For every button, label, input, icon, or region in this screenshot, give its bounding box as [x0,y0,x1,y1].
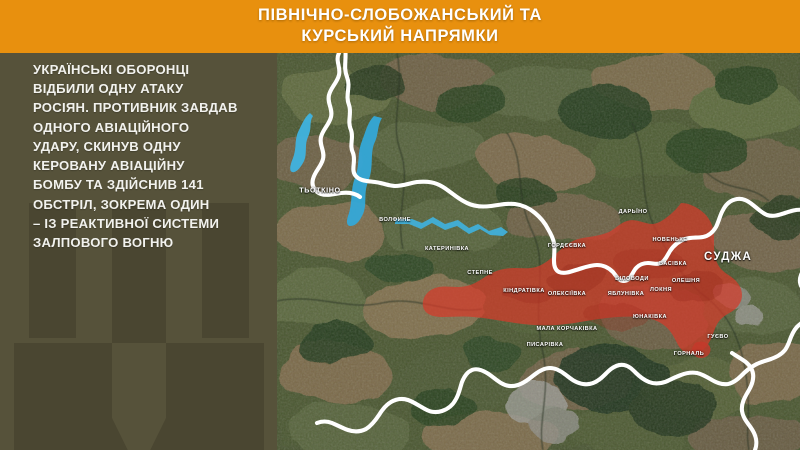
page-title: ПІВНІЧНО-СЛОБОЖАНСЬКИЙ ТА КУРСЬКИЙ НАПРЯ… [258,5,542,48]
sidebar-body-text: УКРАЇНСЬКІ ОБОРОНЦІ ВІДБИЛИ ОДНУ АТАКУ Р… [0,53,277,252]
header-banner: ПІВНІЧНО-СЛОБОЖАНСЬКИЙ ТА КУРСЬКИЙ НАПРЯ… [0,0,800,53]
map-canvas [277,53,800,450]
sidebar-text-panel: УКРАЇНСЬКІ ОБОРОНЦІ ВІДБИЛИ ОДНУ АТАКУ Р… [0,53,277,450]
controlled-zone-spot-hornal [692,342,711,358]
satellite-map[interactable]: ТЬОТКІНО ВОЛФИНЕ КАТЕРИНІВКА СТЕПНЕ КІНД… [277,53,800,450]
infographic-root: ПІВНІЧНО-СЛОБОЖАНСЬКИЙ ТА КУРСЬКИЙ НАПРЯ… [0,0,800,450]
